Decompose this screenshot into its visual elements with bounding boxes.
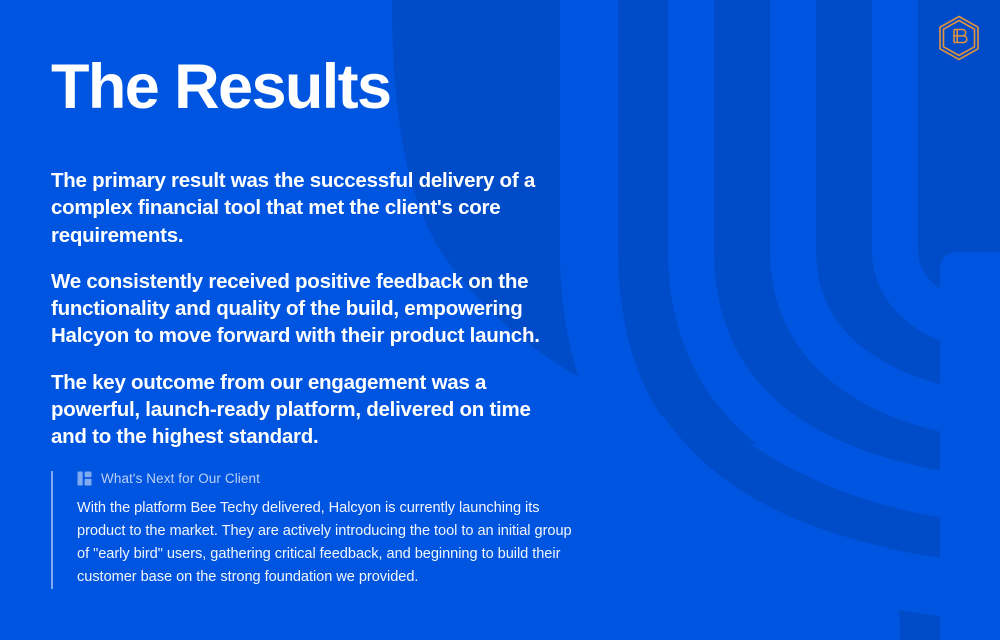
whats-next-callout: What's Next for Our Client With the plat… [51,471,591,589]
decor-gap-2 [691,0,1000,505]
paragraph-1: The primary result was the successful de… [51,167,571,249]
decor-gap-3 [793,0,1000,423]
decor-stripe-1 [640,0,1000,545]
callout-header: What's Next for Our Client [77,471,591,486]
logo-hexagon-outer [940,17,978,60]
icon-right-bottom [85,479,92,486]
logo-hexagon-inner [944,21,975,56]
logo-letter-b [954,30,967,43]
paragraph-2: We consistently received positive feedba… [51,268,571,350]
content-column: The Results The primary result was the s… [51,0,651,640]
page-title: The Results [51,0,651,119]
bee-techy-hexagon-logo [935,14,983,62]
slide-root: The Results The primary result was the s… [0,0,1000,640]
paragraph-3: The key outcome from our engagement was … [51,369,571,451]
decor-inner-panel [940,252,1000,640]
icon-left-bar [78,472,83,486]
body-paragraphs: The primary result was the successful de… [51,167,651,450]
callout-title: What's Next for Our Client [101,472,260,486]
callout-body: With the platform Bee Techy delivered, H… [77,497,582,589]
icon-right-top [85,472,92,478]
layout-dashboard-icon [77,471,92,486]
decor-stripe-2 [742,0,1000,464]
